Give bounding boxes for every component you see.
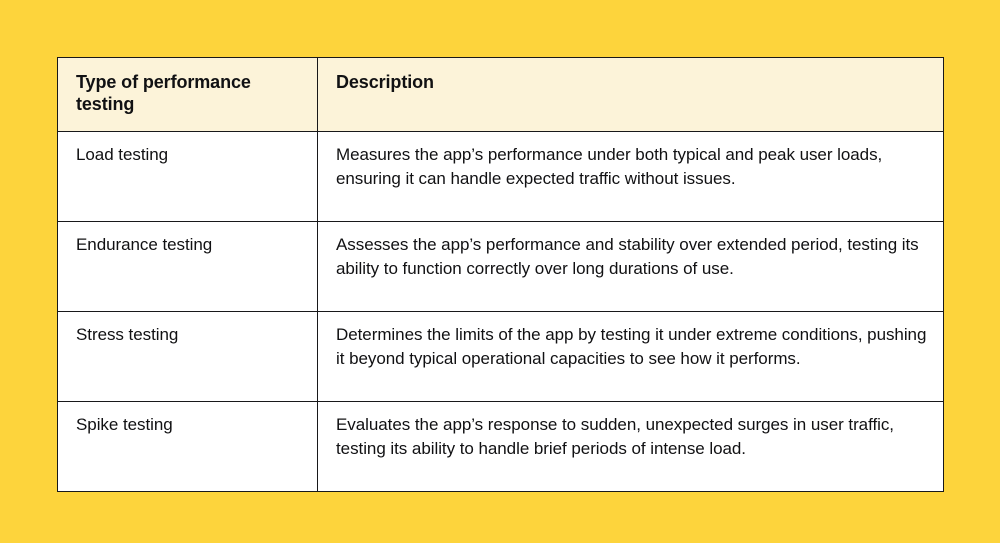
cell-description: Determines the limits of the app by test… <box>318 311 944 401</box>
cell-description: Assesses the app’s performance and stabi… <box>318 221 944 311</box>
cell-testing-type: Endurance testing <box>58 221 318 311</box>
cell-description: Evaluates the app’s response to sudden, … <box>318 401 944 491</box>
table-header-row: Type of performance testing Description <box>58 58 944 132</box>
performance-testing-table: Type of performance testing Description … <box>57 57 944 492</box>
table-row: Endurance testing Assesses the app’s per… <box>58 221 944 311</box>
table-row: Spike testing Evaluates the app’s respon… <box>58 401 944 491</box>
cell-testing-type: Stress testing <box>58 311 318 401</box>
cell-testing-type: Load testing <box>58 131 318 221</box>
table-row: Stress testing Determines the limits of … <box>58 311 944 401</box>
cell-testing-type: Spike testing <box>58 401 318 491</box>
column-header-type: Type of performance testing <box>58 58 318 132</box>
table-header: Type of performance testing Description <box>58 58 944 132</box>
table-body: Load testing Measures the app’s performa… <box>58 131 944 491</box>
table-row: Load testing Measures the app’s performa… <box>58 131 944 221</box>
performance-testing-table-container: Type of performance testing Description … <box>57 57 943 492</box>
page-canvas: Type of performance testing Description … <box>0 0 1000 543</box>
cell-description: Measures the app’s performance under bot… <box>318 131 944 221</box>
column-header-description: Description <box>318 58 944 132</box>
